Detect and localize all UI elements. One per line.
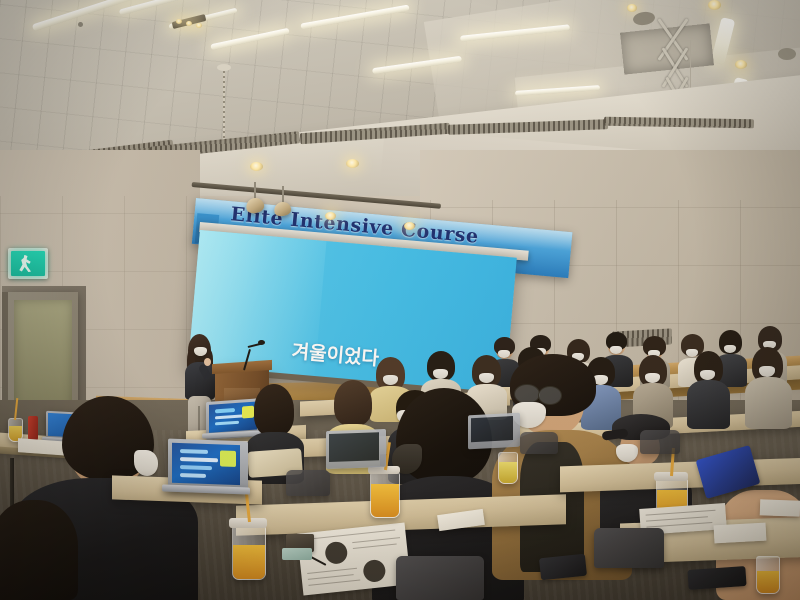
ceiling-downlight xyxy=(196,23,202,28)
ceiling-downlight xyxy=(250,162,263,171)
ceiling-downlight xyxy=(404,222,415,230)
chair[interactable] xyxy=(640,430,680,454)
ceiling-downlight xyxy=(627,4,637,12)
chair[interactable] xyxy=(520,432,558,454)
iced-drink-cup[interactable] xyxy=(370,472,400,518)
microphone-head xyxy=(258,340,265,345)
ceiling-sprinkler xyxy=(78,22,83,27)
ceiling-downlight xyxy=(176,19,182,24)
iced-drink-cup[interactable] xyxy=(232,526,266,580)
papers xyxy=(760,499,800,516)
face-mask xyxy=(134,450,158,476)
glasses xyxy=(538,386,562,405)
hair xyxy=(254,384,294,436)
iced-drink-cup[interactable] xyxy=(756,556,780,594)
laptop-screen xyxy=(172,443,240,485)
audience-laptop[interactable] xyxy=(326,429,386,469)
exit-sign-icon xyxy=(11,251,45,275)
ceiling-downlight xyxy=(346,159,359,168)
lecture-hall-photo: Elite Intensive Course 제39기 미래발전과 성장과제 K… xyxy=(0,0,800,600)
smartphone[interactable] xyxy=(687,566,746,590)
audience-laptop[interactable] xyxy=(468,413,520,450)
ceiling-downlight xyxy=(708,0,721,10)
chair[interactable] xyxy=(594,528,664,568)
eraser[interactable] xyxy=(282,548,312,560)
glasses xyxy=(514,384,540,404)
audience-member xyxy=(250,390,300,482)
hair xyxy=(0,500,78,600)
presenter-hand xyxy=(204,358,211,366)
audience-member xyxy=(690,356,726,428)
iced-drink-cup[interactable] xyxy=(498,452,518,484)
exit-sign-left xyxy=(8,248,48,279)
chair[interactable] xyxy=(396,556,484,600)
ceiling-vent xyxy=(778,48,796,60)
chair[interactable] xyxy=(286,470,330,496)
ceiling-downlight xyxy=(186,21,192,26)
audience-member xyxy=(748,352,788,428)
foreground-attendee xyxy=(0,500,80,600)
papers xyxy=(714,523,767,544)
laptop-screen xyxy=(471,416,513,442)
ceiling-downlight xyxy=(325,212,336,220)
chain-mount xyxy=(217,64,231,71)
laptop-screen xyxy=(329,432,379,462)
ceiling-downlight xyxy=(735,60,747,69)
